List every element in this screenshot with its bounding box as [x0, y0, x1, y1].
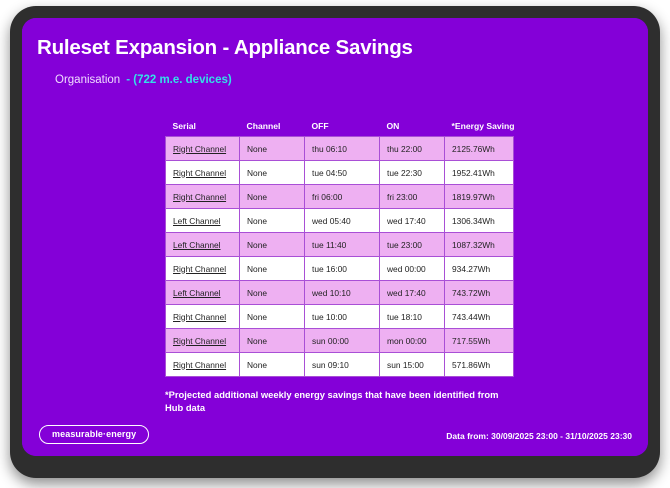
- cell-energy: 1306.34Wh: [445, 209, 514, 233]
- cell-off: tue 16:00: [305, 257, 380, 281]
- serial-link[interactable]: Right Channel: [173, 168, 226, 178]
- cell-energy: 1087.32Wh: [445, 233, 514, 257]
- slide-canvas: Ruleset Expansion - Appliance Savings Or…: [22, 18, 648, 456]
- table-row[interactable]: Right ChannelNonesun 09:10sun 15:00571.8…: [166, 353, 514, 377]
- table-body: Right ChannelNonethu 06:10thu 22:002125.…: [166, 137, 514, 377]
- device-count-label: - (722 m.e. devices): [126, 74, 231, 86]
- cell-on: tue 22:30: [380, 161, 445, 185]
- data-range-label: Data from: 30/09/2025 23:00 - 31/10/2025…: [446, 431, 632, 441]
- device-frame: Ruleset Expansion - Appliance Savings Or…: [10, 6, 660, 478]
- cell-energy: 2125.76Wh: [445, 137, 514, 161]
- cell-channel: None: [240, 209, 305, 233]
- cell-serial: Right Channel: [166, 161, 240, 185]
- cell-energy: 571.86Wh: [445, 353, 514, 377]
- cell-off: thu 06:10: [305, 137, 380, 161]
- cell-channel: None: [240, 161, 305, 185]
- column-header-serial[interactable]: Serial: [166, 119, 240, 137]
- cell-on: sun 15:00: [380, 353, 445, 377]
- column-header-channel[interactable]: Channel: [240, 119, 305, 137]
- subtitle: Organisation- (722 m.e. devices): [55, 74, 232, 86]
- cell-serial: Right Channel: [166, 185, 240, 209]
- cell-serial: Right Channel: [166, 305, 240, 329]
- cell-on: thu 22:00: [380, 137, 445, 161]
- device-screen: Ruleset Expansion - Appliance Savings Or…: [22, 18, 648, 456]
- cell-serial: Right Channel: [166, 257, 240, 281]
- cell-on: wed 00:00: [380, 257, 445, 281]
- table-header-row: Serial Channel OFF ON *Energy Saving: [166, 119, 514, 137]
- serial-link[interactable]: Right Channel: [173, 312, 226, 322]
- organisation-label: Organisation: [55, 74, 120, 86]
- column-header-energy[interactable]: *Energy Saving: [445, 119, 514, 137]
- cell-off: wed 05:40: [305, 209, 380, 233]
- cell-on: tue 18:10: [380, 305, 445, 329]
- cell-serial: Left Channel: [166, 281, 240, 305]
- brand-badge: measurable·energy: [39, 425, 149, 444]
- cell-serial: Left Channel: [166, 233, 240, 257]
- cell-off: wed 10:10: [305, 281, 380, 305]
- cell-serial: Right Channel: [166, 137, 240, 161]
- cell-on: wed 17:40: [380, 209, 445, 233]
- cell-serial: Right Channel: [166, 353, 240, 377]
- serial-link[interactable]: Right Channel: [173, 264, 226, 274]
- table-row[interactable]: Right ChannelNonetue 16:00wed 00:00934.2…: [166, 257, 514, 281]
- cell-serial: Right Channel: [166, 329, 240, 353]
- table-row[interactable]: Right ChannelNonetue 04:50tue 22:301952.…: [166, 161, 514, 185]
- column-header-on[interactable]: ON: [380, 119, 445, 137]
- footnote: *Projected additional weekly energy savi…: [165, 389, 505, 414]
- cell-energy: 934.27Wh: [445, 257, 514, 281]
- cell-channel: None: [240, 137, 305, 161]
- serial-link[interactable]: Right Channel: [173, 144, 226, 154]
- cell-on: wed 17:40: [380, 281, 445, 305]
- serial-link[interactable]: Left Channel: [173, 216, 221, 226]
- cell-energy: 1819.97Wh: [445, 185, 514, 209]
- serial-link[interactable]: Right Channel: [173, 336, 226, 346]
- serial-link[interactable]: Left Channel: [173, 288, 221, 298]
- cell-off: tue 10:00: [305, 305, 380, 329]
- cell-off: tue 11:40: [305, 233, 380, 257]
- page-title: Ruleset Expansion - Appliance Savings: [37, 36, 413, 60]
- cell-energy: 743.44Wh: [445, 305, 514, 329]
- serial-link[interactable]: Right Channel: [173, 192, 226, 202]
- serial-link[interactable]: Right Channel: [173, 360, 226, 370]
- cell-energy: 1952.41Wh: [445, 161, 514, 185]
- table-row[interactable]: Left ChannelNonetue 11:40tue 23:001087.3…: [166, 233, 514, 257]
- cell-channel: None: [240, 257, 305, 281]
- cell-channel: None: [240, 329, 305, 353]
- cell-off: sun 00:00: [305, 329, 380, 353]
- cell-on: fri 23:00: [380, 185, 445, 209]
- table-row[interactable]: Right ChannelNonethu 06:10thu 22:002125.…: [166, 137, 514, 161]
- cell-channel: None: [240, 185, 305, 209]
- cell-off: tue 04:50: [305, 161, 380, 185]
- cell-off: sun 09:10: [305, 353, 380, 377]
- cell-channel: None: [240, 305, 305, 329]
- table-row[interactable]: Left ChannelNonewed 05:40wed 17:401306.3…: [166, 209, 514, 233]
- cell-energy: 743.72Wh: [445, 281, 514, 305]
- cell-off: fri 06:00: [305, 185, 380, 209]
- table-row[interactable]: Right ChannelNonetue 10:00tue 18:10743.4…: [166, 305, 514, 329]
- cell-energy: 717.55Wh: [445, 329, 514, 353]
- table-row[interactable]: Left ChannelNonewed 10:10wed 17:40743.72…: [166, 281, 514, 305]
- cell-channel: None: [240, 353, 305, 377]
- appliance-savings-table: Serial Channel OFF ON *Energy Saving Rig…: [165, 119, 514, 377]
- column-header-off[interactable]: OFF: [305, 119, 380, 137]
- table-row[interactable]: Right ChannelNonesun 00:00mon 00:00717.5…: [166, 329, 514, 353]
- serial-link[interactable]: Left Channel: [173, 240, 221, 250]
- cell-on: tue 23:00: [380, 233, 445, 257]
- cell-serial: Left Channel: [166, 209, 240, 233]
- cell-channel: None: [240, 281, 305, 305]
- table-row[interactable]: Right ChannelNonefri 06:00fri 23:001819.…: [166, 185, 514, 209]
- cell-on: mon 00:00: [380, 329, 445, 353]
- cell-channel: None: [240, 233, 305, 257]
